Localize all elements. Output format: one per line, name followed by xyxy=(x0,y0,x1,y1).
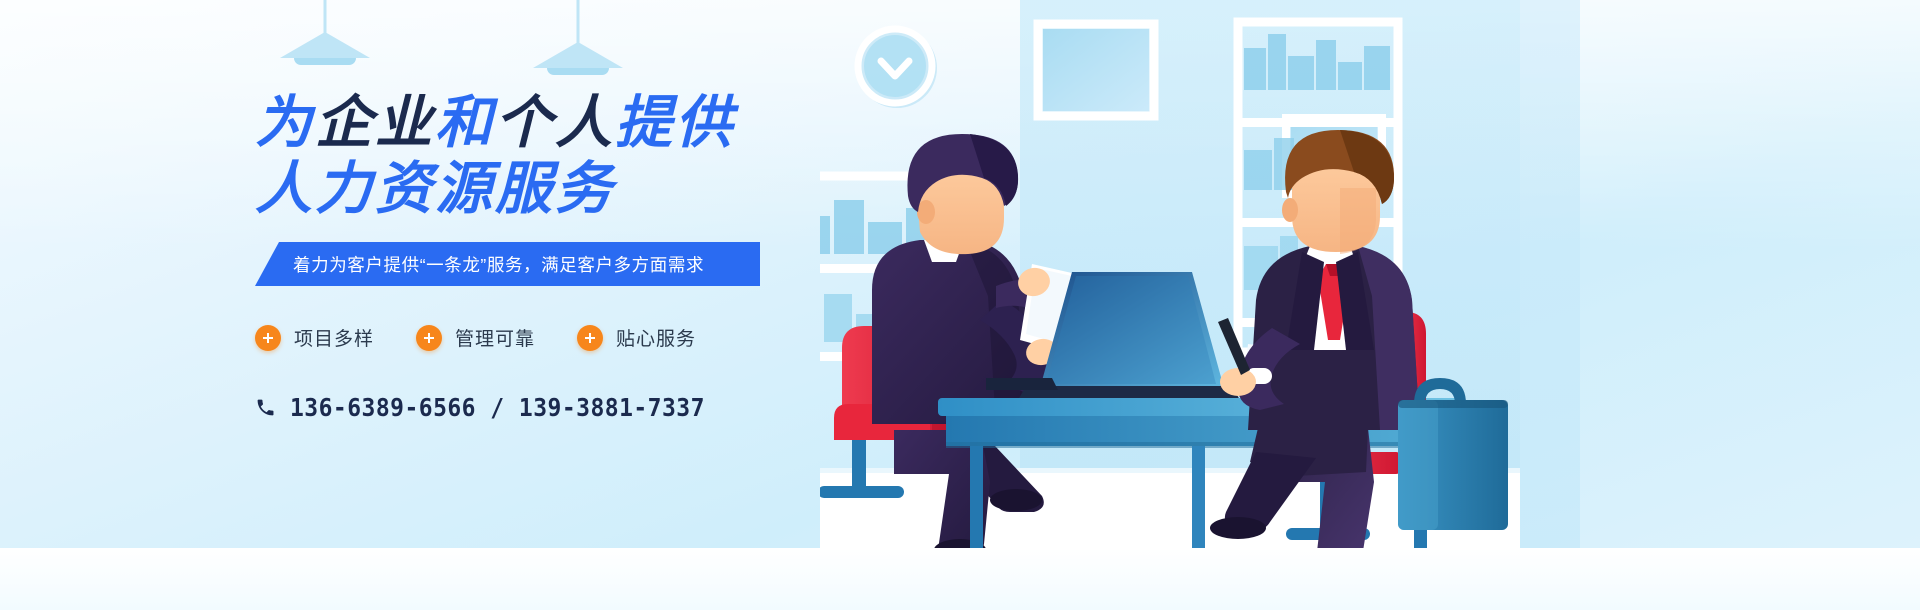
phone-contact[interactable]: 136-6389-6566 / 139-3881-7337 xyxy=(255,393,995,422)
plus-icon xyxy=(416,325,442,351)
lamp-shade-rim xyxy=(294,58,356,65)
phone-number: 136-6389-6566 / 139-3881-7337 xyxy=(290,393,705,422)
headline-segment-3: 和 xyxy=(435,92,495,154)
headline-line-2: 人力资源服务 xyxy=(255,158,995,220)
lamp-shade xyxy=(280,32,370,58)
subtitle-text: 着力为客户提供“一条龙”服务，满足客户多方面需求 xyxy=(255,252,704,277)
shoe xyxy=(990,489,1042,511)
feature-item-2[interactable]: 管理可靠 xyxy=(416,324,535,351)
lamp-shade xyxy=(533,42,623,68)
shoe xyxy=(1210,517,1266,539)
feature-label-2: 管理可靠 xyxy=(455,324,535,351)
lamp-shade-rim xyxy=(547,68,609,75)
feature-label-1: 项目多样 xyxy=(294,324,374,351)
headline-segment-5: 提供 xyxy=(615,92,735,154)
floor-line xyxy=(0,548,1920,550)
framed-picture-large xyxy=(1038,24,1158,120)
hanging-lamp-left xyxy=(280,0,370,58)
subtitle-banner: 着力为客户提供“一条龙”服务，满足客户多方面需求 xyxy=(255,242,760,286)
headline-segment-1: 为 xyxy=(255,92,315,154)
floor-band xyxy=(0,548,1920,610)
headline-segment-4: 个人 xyxy=(495,92,615,154)
feature-item-3[interactable]: 贴心服务 xyxy=(577,324,696,351)
feature-list: 项目多样 管理可靠 贴心服务 xyxy=(255,324,995,351)
headline-line-1: 为企业和个人提供 xyxy=(255,92,995,154)
briefcase xyxy=(1398,378,1508,530)
headline-segment-2: 企业 xyxy=(315,92,435,154)
banner-text-column: 为企业和个人提供 人力资源服务 着力为客户提供“一条龙”服务，满足客户多方面需求… xyxy=(255,92,995,422)
plus-icon xyxy=(577,325,603,351)
feature-label-3: 贴心服务 xyxy=(616,324,696,351)
plus-icon xyxy=(255,325,281,351)
phone-icon xyxy=(255,397,276,418)
hero-banner: 为企业和个人提供 人力资源服务 着力为客户提供“一条龙”服务，满足客户多方面需求… xyxy=(0,0,1920,610)
feature-item-1[interactable]: 项目多样 xyxy=(255,324,374,351)
hanging-lamp-right xyxy=(533,0,623,68)
